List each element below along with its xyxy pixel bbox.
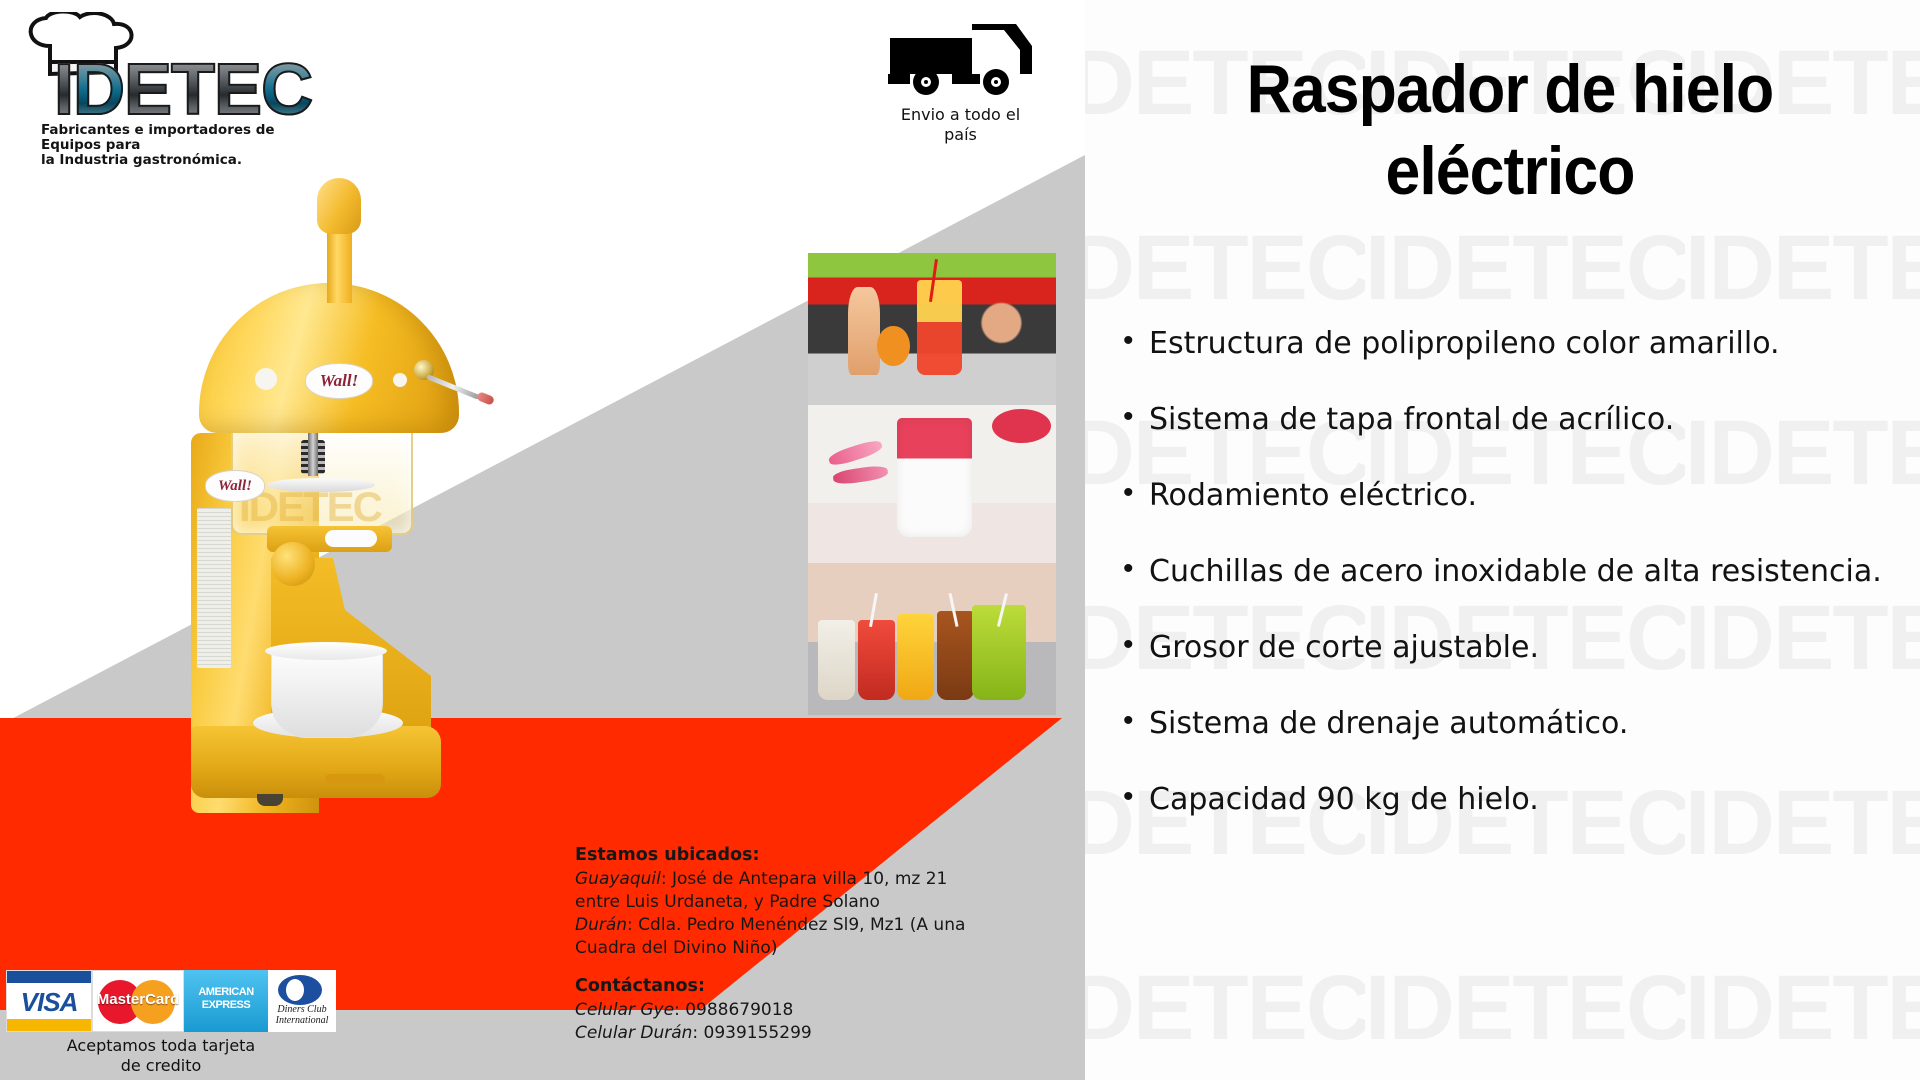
- payment-caption-line1: Aceptamos toda tarjeta: [6, 1036, 316, 1056]
- truck-icon: [886, 18, 1036, 98]
- bullet-dot-icon: •: [1123, 394, 1149, 440]
- machine-foot: [257, 794, 283, 806]
- address-duran-line2: Cuadra del Divino Niño): [575, 937, 1075, 960]
- machine-brand-text-body: Wall!: [218, 478, 252, 495]
- phone-value-duran: : 0939155299: [692, 1023, 811, 1043]
- address-duran-line1: Durán: Cdla. Pedro Menéndez Sl9, Mz1 (A …: [575, 914, 1075, 937]
- contact-heading: Contáctanos:: [575, 976, 1075, 996]
- shipping-caption-line2: país: [878, 125, 1043, 145]
- photo-side-dessert: [992, 409, 1052, 444]
- amex-text: AMERICAN EXPRESS: [189, 986, 263, 1012]
- photo-colorful-cups: [808, 563, 1056, 715]
- feature-item: • Cuchillas de acero inoxidable de alta …: [1123, 546, 1903, 598]
- photo-syrup-bottle: [848, 287, 880, 375]
- address-duran-text1: : Cdla. Pedro Menéndez Sl9, Mz1 (A una: [627, 915, 965, 935]
- machine-brand-badge-body: Wall!: [205, 470, 265, 502]
- left-panel: I D E T E C Fabricantes e importadores d…: [0, 0, 1085, 1080]
- feature-list: • Estructura de polipropileno color amar…: [1123, 318, 1903, 850]
- feature-text: Capacidad 90 kg de hielo.: [1149, 774, 1539, 826]
- product-image-ice-shaver: IDETEC Wall! Wall!: [175, 178, 505, 838]
- phone-label-gye: Celular Gye: [575, 1000, 674, 1020]
- photo-cup-white: [818, 620, 855, 699]
- diners-text: Diners Club International: [268, 1004, 336, 1026]
- logo-letter-i: I: [54, 59, 73, 121]
- bullet-dot-icon: •: [1123, 698, 1149, 744]
- watermark-tile: IDETEC: [1085, 915, 1365, 1080]
- city-label-guayaquil: Guayaquil: [575, 869, 661, 889]
- feature-text: Sistema de tapa frontal de acrílico.: [1149, 394, 1674, 446]
- company-logo: I D E T E C Fabricantes e importadores d…: [14, 8, 334, 168]
- logo-letter-t: T: [171, 59, 214, 121]
- visa-text: VISA: [7, 987, 91, 1018]
- photo-spoon-one: [827, 438, 883, 468]
- location-heading: Estamos ubicados:: [575, 845, 1075, 865]
- bullet-dot-icon: •: [1123, 622, 1149, 668]
- feature-text: Rodamiento eléctrico.: [1149, 470, 1477, 522]
- feature-item: • Grosor de corte ajustable.: [1123, 622, 1903, 674]
- amex-line2: EXPRESS: [189, 999, 263, 1012]
- logo-tagline: Fabricantes e importadores de Equipos pa…: [41, 123, 321, 168]
- logo-wordmark: I D E T E C: [54, 56, 312, 124]
- visa-top-bar: [7, 971, 91, 983]
- feature-item: • Sistema de tapa frontal de acrílico.: [1123, 394, 1903, 446]
- photo-strawberry-dessert: [808, 405, 1056, 562]
- contact-block: Estamos ubicados: Guayaquil: José de Ant…: [575, 845, 1075, 1045]
- photo-vendor-stand: [808, 253, 1056, 405]
- feature-item: • Rodamiento eléctrico.: [1123, 470, 1903, 522]
- machine-dome: [199, 283, 459, 433]
- feature-text: Sistema de drenaje automático.: [1149, 698, 1628, 750]
- shipping-badge: Envio a todo el país: [878, 18, 1043, 145]
- diners-line1: Diners Club: [268, 1004, 336, 1015]
- address-guayaquil-text1: : José de Antepara villa 10, mz 21: [661, 869, 947, 889]
- diners-inner: [286, 979, 304, 1001]
- payment-methods: VISA MasterCard AMERICAN EXPRESS: [6, 970, 336, 1076]
- machine-tag: [325, 530, 377, 547]
- machine-brand-badge-top: Wall!: [305, 363, 373, 399]
- machine-button-left: [255, 368, 277, 390]
- logo-letter-c: C: [261, 59, 312, 121]
- logo-tagline-line1: Fabricantes e importadores de Equipos pa…: [41, 123, 321, 153]
- bullet-dot-icon: •: [1123, 318, 1149, 364]
- amex-line1: AMERICAN: [189, 986, 263, 999]
- bullet-dot-icon: •: [1123, 774, 1149, 820]
- contact-spacer: [575, 960, 1075, 976]
- machine-collection-bowl: [271, 648, 383, 738]
- amex-logo: AMERICAN EXPRESS: [184, 970, 268, 1032]
- mastercard-text: MasterCard: [93, 991, 183, 1008]
- diners-line2: International: [268, 1015, 336, 1026]
- machine-spec-label: [197, 508, 231, 668]
- page-title: Raspador de hielo eléctrico: [1160, 48, 1859, 212]
- machine-adjust-cam: [271, 542, 315, 586]
- payment-logo-row: VISA MasterCard AMERICAN EXPRESS: [6, 970, 336, 1032]
- page-title-line2: eléctrico: [1160, 130, 1859, 212]
- machine-bowl-rim: [265, 642, 387, 660]
- photo-dessert-glass: [897, 418, 971, 537]
- machine-top-knob: [317, 178, 361, 234]
- shipping-caption-line1: Envio a todo el: [878, 105, 1043, 125]
- feature-text: Grosor de corte ajustable.: [1149, 622, 1539, 674]
- visa-logo: VISA: [6, 970, 92, 1032]
- logo-letter-e1: E: [124, 59, 171, 121]
- phone-label-duran: Celular Durán: [575, 1023, 692, 1043]
- machine-press-plate: [267, 478, 375, 492]
- product-poster: I D E T E C Fabricantes e importadores d…: [0, 0, 1920, 1080]
- feature-item: • Estructura de polipropileno color amar…: [1123, 318, 1903, 370]
- feature-text: Cuchillas de acero inoxidable de alta re…: [1149, 546, 1882, 598]
- address-guayaquil-line2: entre Luis Urdaneta, y Padre Solano: [575, 891, 1075, 914]
- payment-caption-line2: de credito: [6, 1056, 316, 1076]
- photo-orange-fruit: [877, 326, 909, 366]
- mastercard-logo: MasterCard: [92, 970, 184, 1032]
- photo-cup-yellow: [897, 614, 934, 699]
- photo-spoon-two: [832, 465, 888, 487]
- feature-item: • Capacidad 90 kg de hielo.: [1123, 774, 1903, 826]
- phone-guayaquil[interactable]: Celular Gye: 0988679018: [575, 999, 1075, 1022]
- feature-text: Estructura de polipropileno color amaril…: [1149, 318, 1780, 370]
- diners-club-logo: Diners Club International: [268, 970, 336, 1032]
- visa-bottom-bar: [7, 1019, 91, 1031]
- machine-lever-handle: [476, 391, 495, 406]
- address-guayaquil-line1: Guayaquil: José de Antepara villa 10, mz…: [575, 868, 1075, 891]
- feature-item: • Sistema de drenaje automático.: [1123, 698, 1903, 750]
- machine-shaft: [308, 428, 318, 476]
- machine-button-right: [393, 373, 407, 387]
- photo-cup-red: [858, 620, 895, 699]
- right-panel: IDETEC IDETEC IDETEC IDETEC IDETEC IDETE…: [1085, 0, 1920, 1080]
- logo-letter-d: D: [73, 59, 124, 121]
- logo-letter-e2: E: [214, 59, 261, 121]
- shipping-caption: Envio a todo el país: [878, 105, 1043, 145]
- phone-value-gye: : 0988679018: [674, 1000, 793, 1020]
- machine-brand-text-top: Wall!: [320, 371, 358, 391]
- payment-caption: Aceptamos toda tarjeta de credito: [6, 1036, 316, 1076]
- machine-base-slot: [325, 774, 385, 784]
- product-photo-strip: [808, 253, 1056, 715]
- watermark-tile: IDETEC: [1685, 915, 1920, 1080]
- bullet-dot-icon: •: [1123, 546, 1149, 592]
- logo-tagline-line2: la Industria gastronómica.: [41, 153, 321, 168]
- watermark-tile: IDETEC: [1365, 915, 1685, 1080]
- bullet-dot-icon: •: [1123, 470, 1149, 516]
- city-label-duran: Durán: [575, 915, 627, 935]
- page-title-line1: Raspador de hielo: [1160, 48, 1859, 130]
- photo-shaved-ice-cup: [917, 280, 962, 375]
- phone-duran[interactable]: Celular Durán: 0939155299: [575, 1022, 1075, 1045]
